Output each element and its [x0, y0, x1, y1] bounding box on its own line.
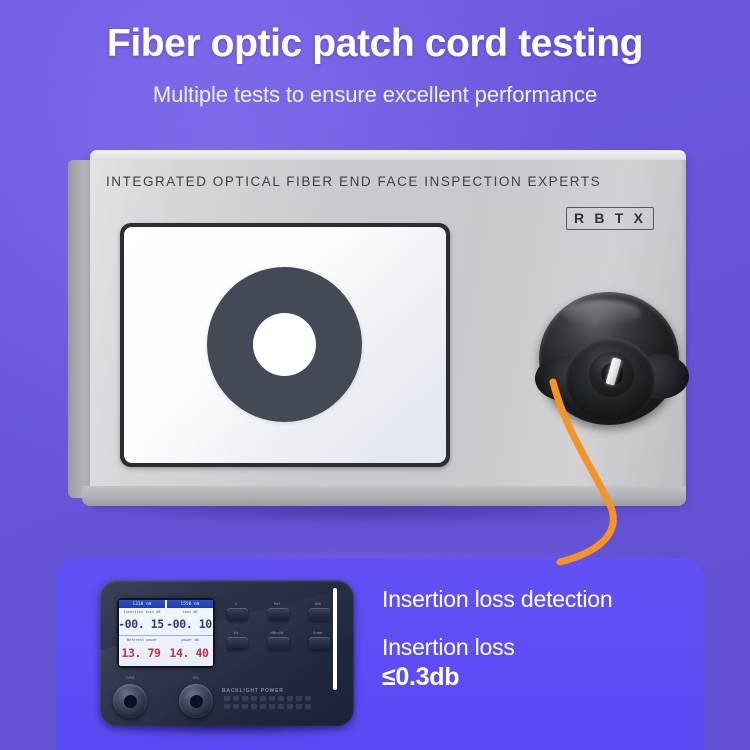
key-set-label: Set — [306, 602, 330, 606]
vent-cell — [242, 704, 248, 709]
key-hz[interactable] — [227, 637, 248, 650]
key-set[interactable] — [309, 608, 330, 621]
inspection-screen — [124, 227, 446, 463]
lcd-sublabel-right: loss dB — [167, 609, 213, 616]
key-dbm[interactable] — [268, 637, 289, 650]
lcd-header-left: 1310 nm — [119, 600, 165, 608]
vent-cell — [269, 704, 275, 709]
lcd-sublabel2-right: power dB — [167, 637, 213, 644]
callout-line-2: Insertion loss — [382, 634, 515, 661]
vent-cell — [278, 696, 284, 701]
vent-cell — [278, 704, 284, 709]
key-lambda-label: λ — [224, 602, 248, 606]
device-top-edge — [90, 150, 686, 160]
vertical-divider — [333, 588, 337, 690]
inspection-screen-bezel — [120, 223, 450, 467]
lcd-value-right: -00. 10 — [165, 617, 213, 632]
callout-line-3: ≤0.3db — [382, 663, 459, 692]
vent-cell — [296, 696, 302, 701]
header: Fiber optic patch cord testing Multiple … — [0, 0, 750, 140]
fiber-endface-ring-icon — [207, 267, 362, 422]
key-hz-label: Hz — [224, 631, 248, 635]
device-base — [82, 486, 686, 506]
vent-cell — [287, 704, 293, 709]
vent-cell — [251, 704, 257, 709]
lcd-header-right: 1550 nm — [167, 600, 213, 608]
page-subtitle: Multiple tests to ensure excellent perfo… — [0, 82, 750, 108]
lcd-sublabel2-left: Referent power — [119, 637, 165, 644]
page-title: Fiber optic patch cord testing — [0, 22, 750, 66]
handheld-power-meter: 1310 nm 1550 nm Insertion loss dB loss d… — [100, 580, 358, 732]
vent-cell — [251, 696, 257, 701]
insertion-loss-panel: 1310 nm 1550 nm Insertion loss dB loss d… — [56, 558, 704, 750]
key-lambda[interactable] — [227, 608, 248, 621]
vent-cell — [233, 704, 239, 709]
lcd-divider — [119, 635, 213, 636]
vent-cell — [305, 696, 311, 701]
vent-cell — [233, 696, 239, 701]
port-vfl-label: VFL — [176, 676, 216, 680]
device-caption: INTEGRATED OPTICAL FIBER END FACE INSPEC… — [106, 174, 601, 189]
vent-cell — [287, 696, 293, 701]
vent-cell — [242, 696, 248, 701]
vent-cell — [296, 704, 302, 709]
callout-line-1: Insertion loss detection — [382, 586, 612, 613]
inspection-device: INTEGRATED OPTICAL FIBER END FACE INSPEC… — [62, 148, 686, 523]
port-opm-label: OPM — [110, 676, 150, 680]
brand-badge: R B T X — [566, 207, 654, 230]
lens-assembly — [535, 290, 689, 428]
lens-highlight — [563, 300, 641, 326]
key-ref[interactable] — [268, 608, 289, 621]
port-opm[interactable] — [113, 684, 147, 718]
vent-cell — [260, 704, 266, 709]
port-vfl[interactable] — [179, 684, 213, 718]
key-ref-label: Ref — [265, 602, 289, 606]
port-vfl-bore — [190, 695, 203, 708]
vent-cell — [305, 704, 311, 709]
lcd-value-left: -00. 15 — [117, 617, 165, 632]
handheld-brand-label: BACKLIGHT POWER — [222, 688, 284, 694]
vent-cell — [260, 696, 266, 701]
fiber-endface-core — [253, 313, 316, 376]
key-enter[interactable] — [309, 637, 330, 650]
lcd-value2-left: 13. 79 — [117, 646, 165, 661]
handheld-lcd-screen: 1310 nm 1550 nm Insertion loss dB loss d… — [117, 598, 215, 668]
vent-cell — [269, 696, 275, 701]
port-opm-bore — [124, 695, 137, 708]
lcd-sublabel-left: Insertion loss dB — [119, 609, 165, 616]
lcd-value2-right: 14. 40 — [165, 646, 213, 661]
key-dbm-label: dBm/W — [265, 631, 289, 635]
vent-cell — [224, 696, 230, 701]
vent-cell — [224, 704, 230, 709]
key-enter-label: Enter — [306, 631, 330, 635]
